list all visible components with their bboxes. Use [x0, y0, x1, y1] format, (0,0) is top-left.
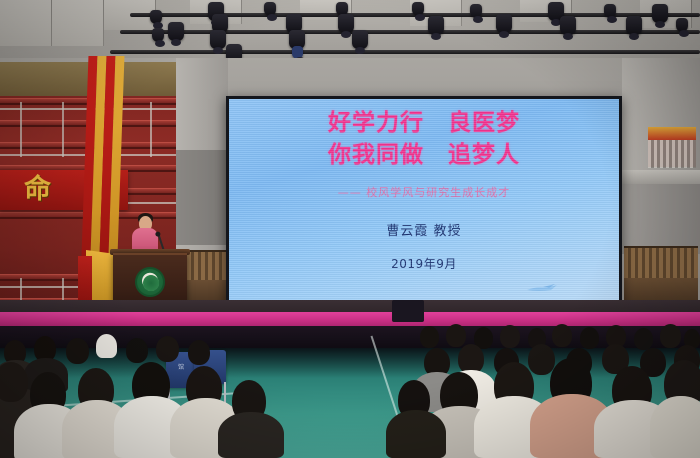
slide-subtitle: —— 校风学风与研究生成长成才 [338, 184, 511, 200]
balcony-railing [648, 140, 696, 168]
slide-presenter: 曹云霞 教授 [386, 220, 461, 239]
stage-speaker-box [392, 300, 424, 322]
slide-watermark-icon [525, 283, 559, 293]
led-screen[interactable]: 好学力行 良医梦 你我同做 追梦人 —— 校风学风与研究生成长成才 曹云霞 教授… [229, 99, 619, 307]
wall-slats-right [624, 246, 698, 278]
podium-side-drape-red [78, 256, 92, 304]
slide-title-line-2: 你我同做 追梦人 [328, 139, 520, 171]
slide-date: 2019年9月 [391, 255, 457, 272]
university-crest-icon [135, 267, 165, 297]
slide-title-line-1: 好学力行 良医梦 [328, 107, 520, 139]
banner-character: 命 [24, 172, 51, 208]
presentation-slide: 好学力行 良医梦 你我同做 追梦人 —— 校风学风与研究生成长成才 曹云霞 教授… [229, 99, 619, 307]
chair-label: 馆 [178, 362, 184, 371]
lecture-hall-photo: 命 好学力行 良医梦 你我同做 追梦人 —— 校风学风与研究生成长成才 曹云霞 … [0, 0, 700, 458]
